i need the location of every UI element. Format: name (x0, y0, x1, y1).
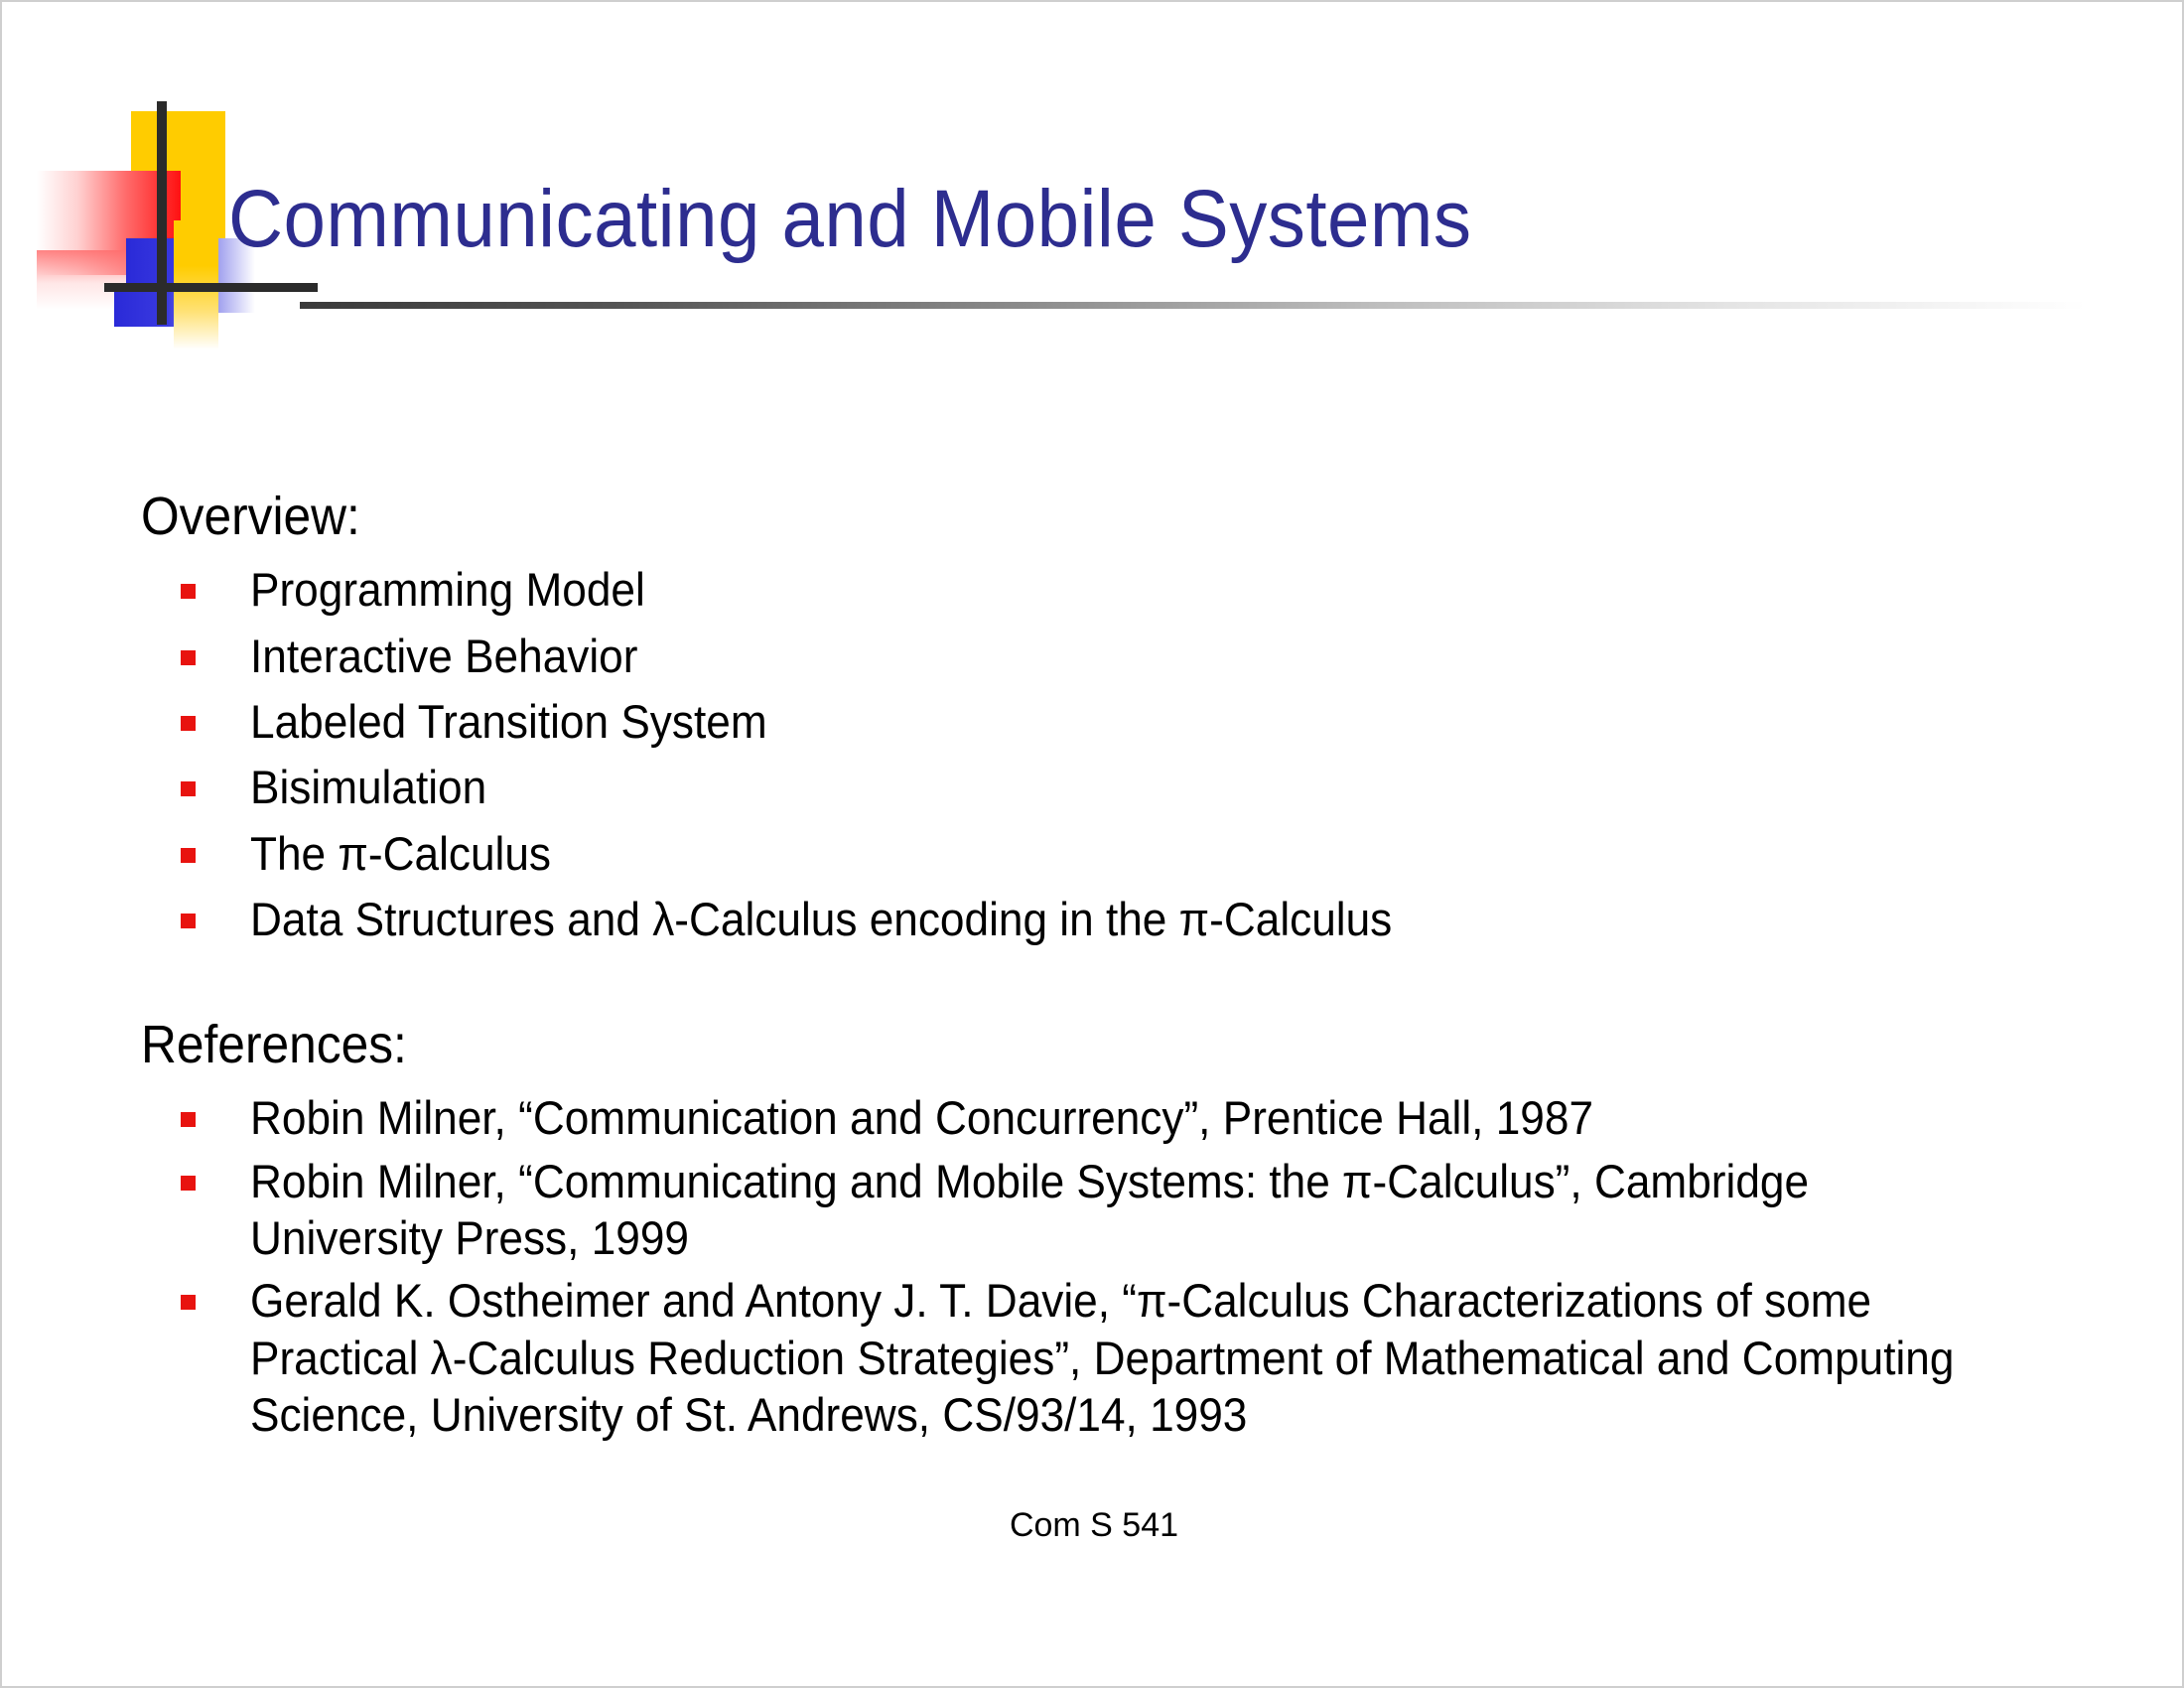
list-item: The π-Calculus (141, 825, 2107, 882)
list-item: Bisimulation (141, 759, 2107, 815)
reference-item-label: Gerald K. Ostheimer and Antony J. T. Dav… (250, 1272, 1995, 1443)
references-heading: References: (141, 1017, 1950, 1073)
list-item: Programming Model (141, 561, 2107, 618)
list-item: Labeled Transition System (141, 693, 2107, 750)
overview-item-label: Data Structures and λ-Calculus encoding … (250, 891, 1995, 947)
square-bullet-icon (181, 781, 196, 796)
square-bullet-icon (181, 1112, 196, 1127)
title-divider-rule (300, 302, 2087, 309)
overview-item-label: Bisimulation (250, 759, 1995, 815)
list-item: Interactive Behavior (141, 628, 2107, 684)
reference-item-label: Robin Milner, “Communication and Concurr… (250, 1089, 1995, 1146)
square-bullet-icon (181, 914, 196, 928)
square-bullet-icon (181, 716, 196, 731)
slide-canvas: Communicating and Mobile Systems Overvie… (0, 0, 2184, 1688)
square-bullet-icon (181, 584, 196, 599)
overview-item-label: Labeled Transition System (250, 693, 1995, 750)
reference-item-label: Robin Milner, “Communicating and Mobile … (250, 1153, 1995, 1267)
square-bullet-icon (181, 650, 196, 665)
overview-item-label: The π-Calculus (250, 825, 1995, 882)
square-bullet-icon (181, 1295, 196, 1310)
list-item: Gerald K. Ostheimer and Antony J. T. Dav… (141, 1272, 2107, 1443)
slide-body: Overview: Programming Model Interactive … (141, 489, 2107, 1449)
slide-title: Communicating and Mobile Systems (228, 179, 1982, 260)
slide-footer: Com S 541 (2, 1506, 2184, 1545)
overview-bullet-list: Programming Model Interactive Behavior L… (141, 561, 2107, 947)
references-bullet-list: Robin Milner, “Communication and Concurr… (141, 1089, 2107, 1443)
overview-item-label: Programming Model (250, 561, 1995, 618)
overview-item-label: Interactive Behavior (250, 628, 1995, 684)
list-item: Robin Milner, “Communicating and Mobile … (141, 1153, 2107, 1267)
logo-horizontal-line (104, 283, 318, 292)
list-item: Robin Milner, “Communication and Concurr… (141, 1089, 2107, 1146)
square-bullet-icon (181, 1176, 196, 1191)
square-bullet-icon (181, 848, 196, 863)
overview-heading: Overview: (141, 489, 1950, 545)
list-item: Data Structures and λ-Calculus encoding … (141, 891, 2107, 947)
